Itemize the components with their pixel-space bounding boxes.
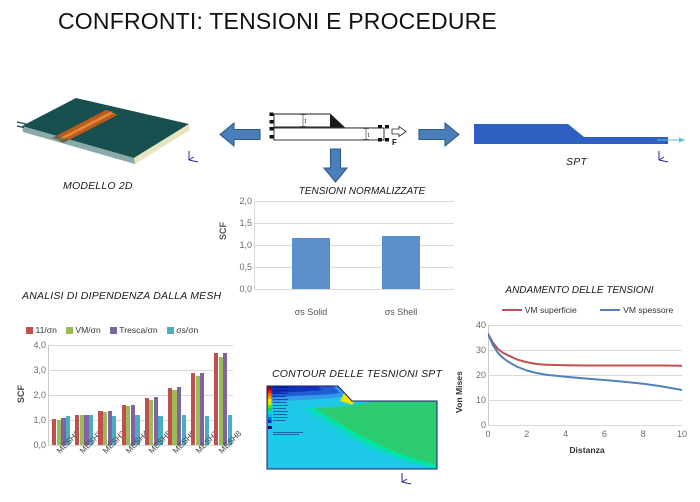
bar-mesh8-s0: [214, 353, 218, 445]
y-tick-label: 0,5: [218, 262, 252, 272]
caption-spt: SPT: [566, 156, 587, 168]
chart-legend-mesh: 11/σn VM/σn Tresca/σn σs/σn: [26, 325, 241, 335]
y-tick-label: 1,5: [218, 218, 252, 228]
x-tick-label: 10: [670, 429, 694, 439]
bar-mesh7-s1: [196, 376, 200, 445]
chart-title-andamento: ANDAMENTO DELLE TENSIONI: [472, 285, 687, 296]
bar-mesh6-s0: [168, 388, 172, 446]
gridline: [254, 223, 454, 224]
y-tick-label: 2,0: [16, 390, 46, 400]
gridline: [488, 425, 682, 426]
x-tick-label: σs Solid: [276, 307, 346, 317]
bar-mesh4-s0: [122, 405, 126, 445]
arrow-left-icon: [219, 121, 261, 148]
x-tick-label: 4: [554, 429, 578, 439]
legend-label: VM spessore: [623, 305, 673, 315]
legend-item-tresca: Tresca/σn: [110, 325, 158, 335]
axis-triad-icon-spt: [655, 148, 673, 164]
line-series-0: [488, 334, 682, 366]
bar-mesh1-s1: [57, 420, 61, 445]
y-tick-label: 40: [460, 320, 486, 330]
x-tick-label: 2: [515, 429, 539, 439]
bar-mesh5-s0: [145, 398, 149, 446]
arrow-right-icon: [418, 121, 460, 148]
bar-mesh2-s0: [75, 415, 79, 445]
bar-mesh7-s0: [191, 373, 195, 445]
gridline: [48, 370, 233, 371]
plot-area-mesh: 0,01,02,03,04,0MESH1MESH2MESH3MESH4MESH5…: [48, 345, 233, 445]
axis-triad-icon-contour: [398, 470, 416, 486]
fem-sketch-image: t t F: [268, 108, 408, 152]
y-tick-label: 3,0: [16, 365, 46, 375]
y-tick-label: 10: [460, 395, 486, 405]
gridline: [254, 267, 454, 268]
bar-mesh4-s1: [126, 406, 130, 445]
axis-triad-icon-model: [185, 148, 203, 164]
x-tick-label: 0: [476, 429, 500, 439]
y-tick-label: 2,0: [218, 196, 252, 206]
bar-mesh3-s0: [98, 411, 102, 445]
bar-sigma-s-solid: [292, 238, 330, 289]
bar-mesh8-s1: [219, 357, 223, 445]
bar-mesh5-s1: [149, 400, 153, 446]
legend-label: Tresca/σn: [119, 325, 157, 335]
x-tick-label: σs Shell: [366, 307, 436, 317]
legend-swatch-icon: [26, 327, 33, 334]
y-tick-label: 1,0: [218, 240, 252, 250]
gridline: [254, 201, 454, 202]
y-tick-label: 0,0: [16, 440, 46, 450]
chart-andamento-tensioni: ANDAMENTO DELLE TENSIONI VM superficie V…: [452, 285, 692, 500]
bar-mesh2-s1: [80, 415, 84, 445]
legend-swatch-icon: [110, 327, 117, 334]
legend-line-icon: [502, 309, 522, 312]
gridline: [254, 289, 454, 290]
legend-item-sigma-s: σs/σn: [167, 325, 199, 335]
gridline: [48, 345, 233, 346]
legend-item-sigma11: 11/σn: [26, 325, 57, 335]
modello-2d-image: [14, 86, 214, 171]
legend-swatch-icon: [167, 327, 174, 334]
bar-mesh8-s2: [223, 353, 227, 445]
plot-area-andamento: 0102030400246810: [488, 325, 682, 425]
legend-item-vm-spessore: VM spessore: [600, 305, 673, 315]
x-tick-label: 6: [592, 429, 616, 439]
force-label: F: [392, 138, 397, 147]
y-tick-label: 30: [460, 345, 486, 355]
caption-analisi-mesh: ANALISI DI DIPENDENZA DALLA MESH: [22, 290, 221, 302]
chart-analisi-mesh: 11/σn VM/σn Tresca/σn σs/σn SCF 0,01,02,…: [16, 325, 241, 500]
legend-swatch-icon: [66, 327, 73, 334]
chart-legend-andamento: VM superficie VM spessore: [490, 305, 685, 315]
legend-item-vm: VM/σn: [66, 325, 101, 335]
legend-label: σs/σn: [176, 325, 198, 335]
line-series-1: [488, 334, 682, 390]
legend-label: 11/σn: [36, 325, 57, 335]
chart-xlabel-andamento: Distanza: [492, 445, 682, 455]
caption-modello-2d: MODELLO 2D: [63, 180, 133, 192]
gridline: [254, 245, 454, 246]
y-tick-label: 1,0: [16, 415, 46, 425]
caption-contour: CONTOUR DELLE TESNIONI SPT: [272, 368, 442, 380]
legend-label: VM superficie: [525, 305, 577, 315]
x-tick-label: 8: [631, 429, 655, 439]
bar-mesh6-s1: [172, 390, 176, 445]
legend-line-icon: [600, 309, 620, 312]
y-tick-label: 0,0: [218, 284, 252, 294]
bar-sigma-s-shell: [382, 236, 420, 289]
chart-title-normalizzate: TENSIONI NORMALIZZATE: [262, 186, 462, 197]
bar-mesh1-s0: [52, 419, 56, 445]
bar-mesh7-s2: [200, 373, 204, 445]
slide-root: CONFRONTI: TENSIONI E PROCEDURE MODELLO …: [0, 0, 700, 502]
page-title: CONFRONTI: TENSIONI E PROCEDURE: [58, 8, 497, 35]
arrow-down-icon: [322, 148, 349, 183]
gridline: [48, 395, 233, 396]
plot-area-normalizzate: 0,0 0,5 1,0 1,5 2,0 σs Solid σs Shell: [254, 201, 454, 289]
y-tick-label: 4,0: [16, 340, 46, 350]
bar-mesh3-s1: [103, 412, 107, 445]
legend-item-vm-superficie: VM superficie: [502, 305, 577, 315]
y-tick-label: 20: [460, 370, 486, 380]
chart-tensioni-normalizzate: TENSIONI NORMALIZZATE SCF 0,0 0,5 1,0 1,…: [216, 186, 464, 311]
bar-mesh6-s2: [177, 387, 181, 445]
contour-plot-image: [266, 385, 438, 470]
legend-label: VM/σn: [75, 325, 100, 335]
